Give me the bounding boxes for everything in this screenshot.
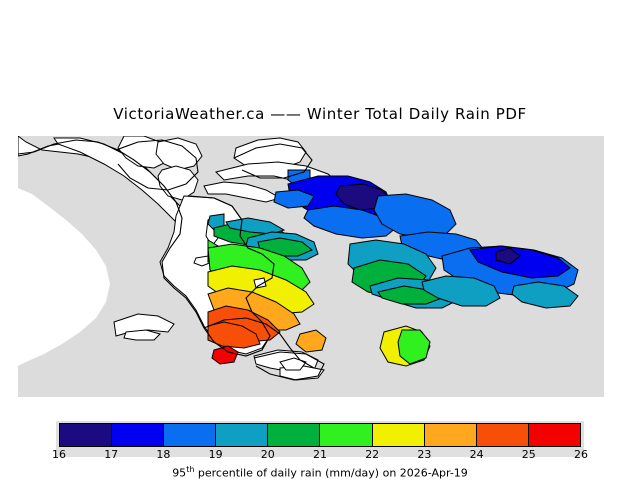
colorbar-segments [59,423,581,447]
colorbar-segment-5 [320,424,372,446]
map-panel [18,136,604,397]
colorbar-segment-9 [529,424,580,446]
weather-map-figure: VictoriaWeather.ca —— Winter Total Daily… [0,0,640,480]
colorbar-tick-label: 21 [313,448,327,461]
colorbar-caption: 95th percentile of daily rain (mm/day) o… [0,465,640,480]
colorbar-tick-label: 26 [574,448,588,461]
colorbar-segment-2 [164,424,216,446]
colorbar-segment-0 [60,424,112,446]
colorbar-segment-3 [216,424,268,446]
colorbar-ticks: 1617181920212223242526 [59,448,581,464]
colorbar-tick-label: 25 [522,448,536,461]
map-canvas [18,136,604,397]
colorbar-segment-7 [425,424,477,446]
colorbar-tick-label: 20 [261,448,275,461]
colorbar-tick-label: 23 [417,448,431,461]
colorbar-tick-label: 16 [52,448,66,461]
colorbar-segment-8 [477,424,529,446]
colorbar-segment-1 [112,424,164,446]
page-title: VictoriaWeather.ca —— Winter Total Daily… [0,105,640,123]
colorbar-segment-4 [268,424,320,446]
colorbar-segment-6 [373,424,425,446]
colorbar-tick-label: 19 [209,448,223,461]
colorbar-tick-label: 18 [156,448,170,461]
colorbar-tick-label: 22 [365,448,379,461]
colorbar-tick-label: 17 [104,448,118,461]
colorbar-tick-label: 24 [470,448,484,461]
colorbar: 1617181920212223242526 95th percentile o… [0,415,640,480]
